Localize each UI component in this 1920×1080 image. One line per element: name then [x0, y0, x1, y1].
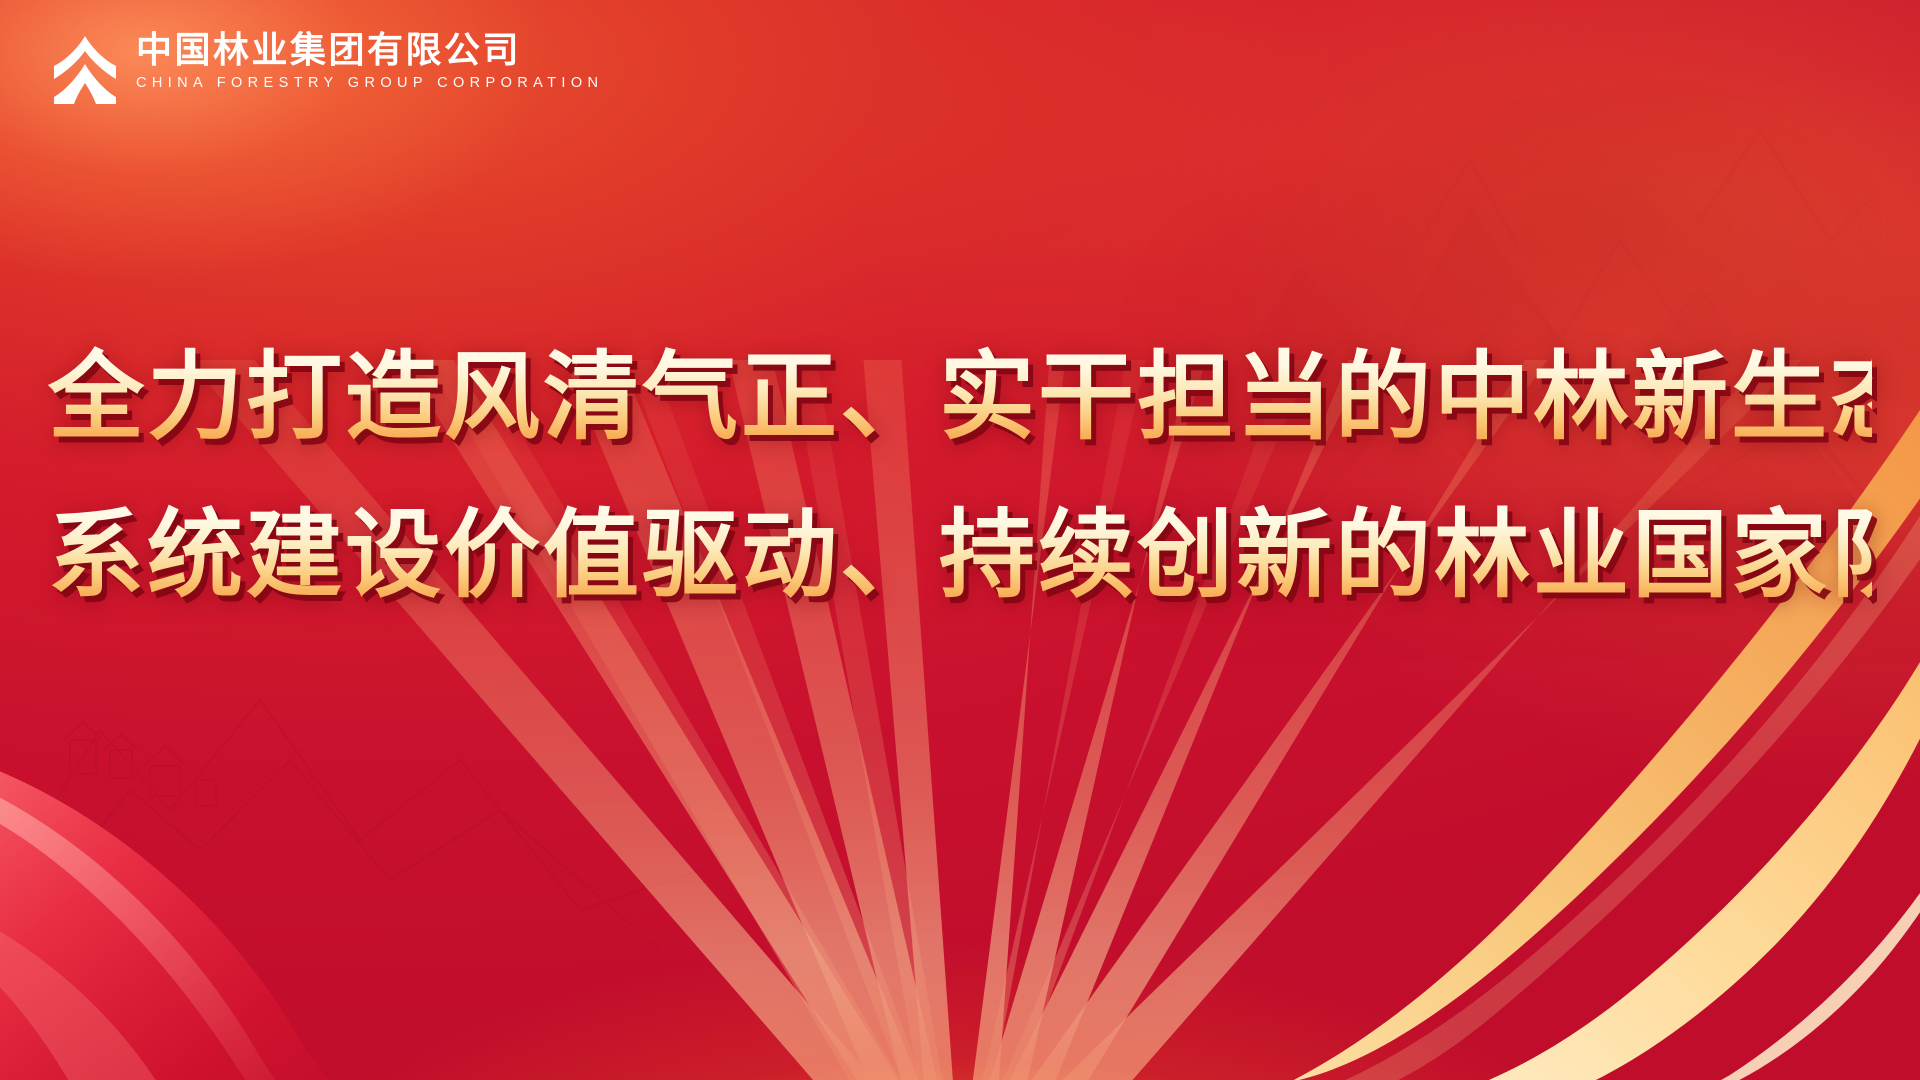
headline-line-1: 全力打造风清气正、实干担当的中林新生态 [48, 330, 1872, 466]
banner-canvas: 中国林业集团有限公司 CHINA FORESTRY GROUP CORPORAT… [0, 0, 1920, 1080]
headline-block: 全力打造风清气正、实干担当的中林新生态 系统建设价值驱动、持续创新的林业国家队 [0, 330, 1920, 625]
company-name-en: CHINA FORESTRY GROUP CORPORATION [136, 75, 603, 91]
headline-line-2: 系统建设价值驱动、持续创新的林业国家队 [48, 488, 1872, 624]
brand-logo-text: 中国林业集团有限公司 CHINA FORESTRY GROUP CORPORAT… [136, 30, 603, 91]
brand-logo[interactable]: 中国林业集团有限公司 CHINA FORESTRY GROUP CORPORAT… [52, 30, 603, 106]
company-name-cn: 中国林业集团有限公司 [136, 30, 603, 70]
ink-mountains-bottom-left-icon [0, 590, 720, 1050]
pagoda-tree-logo-icon [52, 34, 118, 106]
